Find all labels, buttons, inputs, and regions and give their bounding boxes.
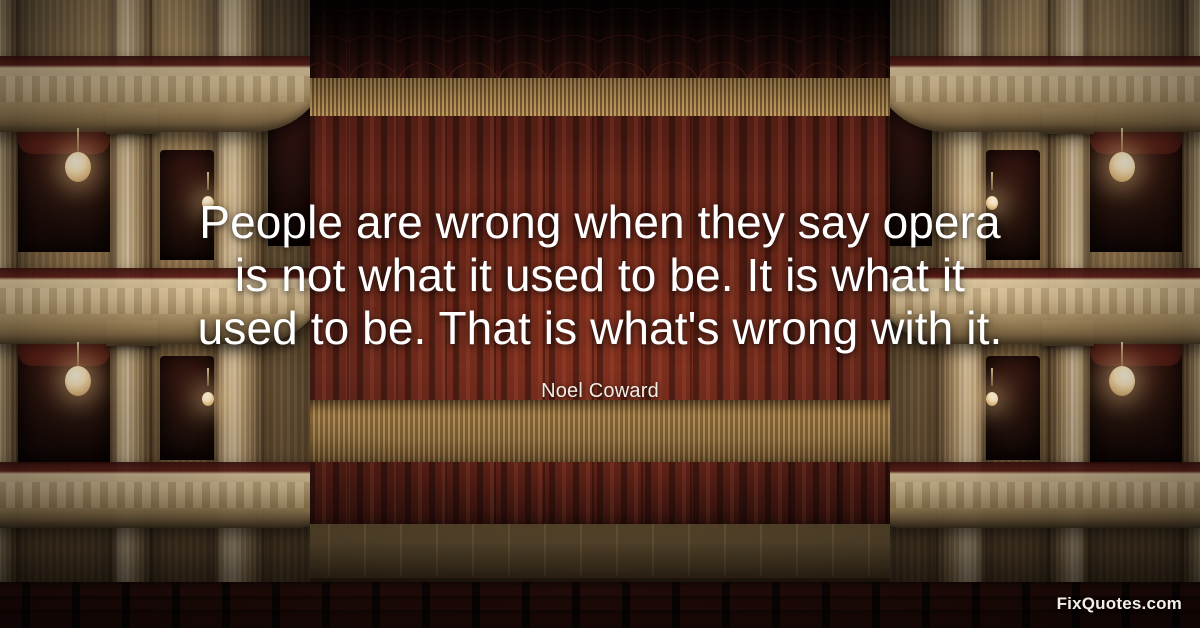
quote-text: People are wrong when they say opera is … xyxy=(120,196,1080,355)
watermark-fixquotes[interactable]: FixQuotes.com xyxy=(1057,594,1182,614)
quote-overlay: People are wrong when they say opera is … xyxy=(0,0,1200,628)
quote-image-card: People are wrong when they say opera is … xyxy=(0,0,1200,628)
quote-author: Noel Coward xyxy=(541,380,659,403)
